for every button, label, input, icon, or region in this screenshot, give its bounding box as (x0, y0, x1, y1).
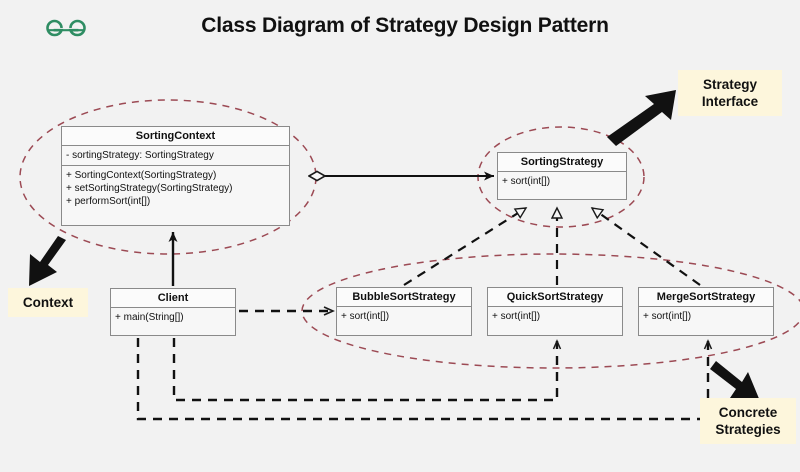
uml-class-name: MergeSortStrategy (639, 288, 773, 307)
uml-operation: + sort(int[]) (341, 310, 467, 323)
uml-class-name: SortingStrategy (498, 153, 626, 172)
callout-arrow-strategy-interface (607, 90, 676, 146)
callout-line-1: Strategy (687, 76, 773, 93)
uml-operation: + main(String[]) (115, 311, 231, 324)
uml-operation: + setSortingStrategy(SortingStrategy) (66, 182, 285, 195)
uml-operations-compartment: + sort(int[]) (488, 307, 622, 326)
uml-operations-compartment: + sort(int[]) (639, 307, 773, 326)
connector-merge-realizes-strategy (592, 208, 700, 285)
callout-line-1: Concrete (709, 404, 787, 421)
uml-class-quicksortstrategy[interactable]: QuickSortStrategy + sort(int[]) (487, 287, 623, 336)
uml-operation: + performSort(int[]) (66, 195, 285, 208)
callout-line-1: Context (17, 294, 79, 311)
diagram-canvas: Class Diagram of Strategy Design Pattern… (0, 0, 800, 472)
callout-strategy-interface: Strategy Interface (678, 70, 782, 116)
callout-context: Context (8, 288, 88, 317)
page-title: Class Diagram of Strategy Design Pattern (160, 14, 650, 38)
uml-class-name: QuickSortStrategy (488, 288, 622, 307)
callout-concrete-strategies: Concrete Strategies (700, 398, 796, 444)
callout-line-2: Strategies (709, 421, 787, 438)
connector-client-to-merge (138, 338, 708, 419)
uml-operations-compartment: + main(String[]) (111, 308, 235, 327)
uml-operation: + sort(int[]) (643, 310, 769, 323)
uml-class-sortingstrategy[interactable]: SortingStrategy + sort(int[]) (497, 152, 627, 200)
uml-class-name: Client (111, 289, 235, 308)
geeksforgeeks-logo (44, 17, 88, 43)
header: Class Diagram of Strategy Design Pattern (0, 0, 800, 58)
uml-class-client[interactable]: Client + main(String[]) (110, 288, 236, 336)
uml-class-sortingcontext[interactable]: SortingContext - sortingStrategy: Sortin… (61, 126, 290, 226)
callout-arrow-context (29, 236, 66, 286)
uml-operation: + sort(int[]) (502, 175, 622, 188)
uml-operation: + SortingContext(SortingStrategy) (66, 169, 285, 182)
uml-operations-compartment: + sort(int[]) (337, 307, 471, 326)
uml-attributes-compartment: - sortingStrategy: SortingStrategy (62, 146, 289, 166)
uml-operation: + sort(int[]) (492, 310, 618, 323)
uml-class-bubblesortstrategy[interactable]: BubbleSortStrategy + sort(int[]) (336, 287, 472, 336)
connector-bubble-realizes-strategy (404, 208, 526, 285)
connector-client-to-quick (174, 338, 557, 400)
uml-operations-compartment: + SortingContext(SortingStrategy) + setS… (62, 166, 289, 211)
uml-class-mergesortstrategy[interactable]: MergeSortStrategy + sort(int[]) (638, 287, 774, 336)
uml-class-name: SortingContext (62, 127, 289, 146)
callout-line-2: Interface (687, 93, 773, 110)
uml-operations-compartment: + sort(int[]) (498, 172, 626, 191)
uml-class-name: BubbleSortStrategy (337, 288, 471, 307)
callout-arrow-concrete-strategies (710, 361, 760, 401)
uml-attribute: - sortingStrategy: SortingStrategy (66, 149, 285, 162)
